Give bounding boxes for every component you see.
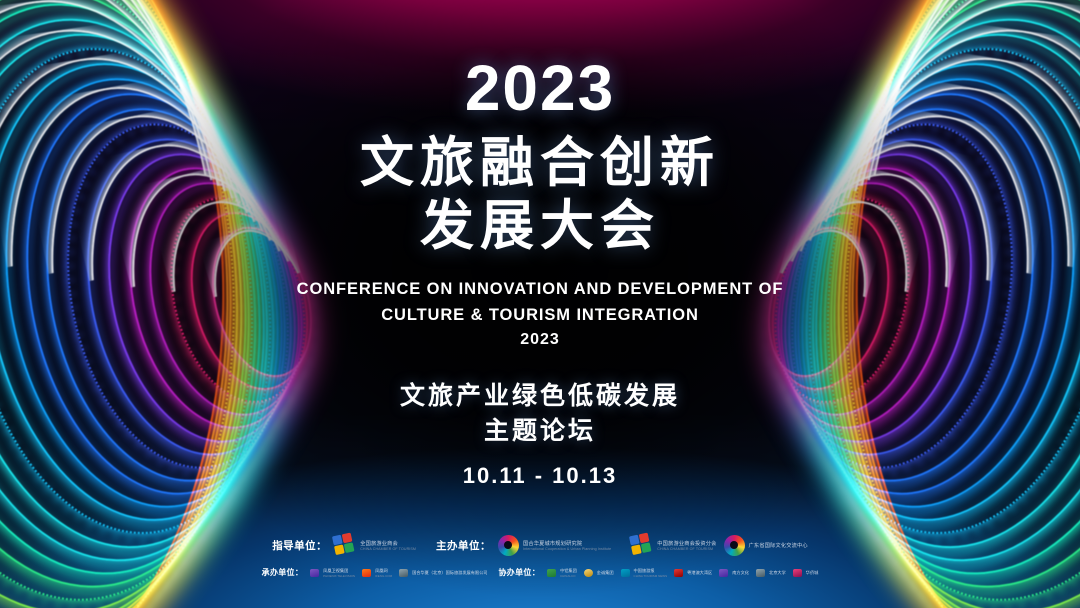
sponsor-name-cn: 金诚集团	[597, 570, 614, 576]
sponsor-logo: 北京大学	[756, 569, 786, 577]
sponsor-name-en: CHINA CHAMBER OF TOURISM	[657, 547, 716, 551]
sponsor-group: 指导单位：全国旅游业商会CHINA CHAMBER OF TOURISM	[272, 534, 416, 556]
sponsor-logo-text: 金诚集团	[597, 570, 614, 576]
sponsor-logo: 南方文化	[719, 569, 749, 577]
sponsor-logo: 全国旅游业商会CHINA CHAMBER OF TOURISM	[334, 534, 416, 556]
cube-logo	[332, 532, 358, 558]
sponsor-section: 指导单位：全国旅游业商会CHINA CHAMBER OF TOURISM主办单位…	[0, 534, 1080, 578]
sponsor-group: 中国旅游业商会投资分会CHINA CHAMBER OF TOURISM广东省国际…	[631, 534, 808, 556]
globe-logo	[724, 535, 745, 556]
sponsor-name-cn: 中国旅游业商会投资分会	[657, 540, 716, 547]
pink-logo	[793, 569, 802, 577]
grey-logo	[399, 569, 408, 577]
sponsor-logo: 广东省国际文化交流中心	[724, 535, 808, 556]
sponsor-name-cn: 粤港澳大湾区	[687, 570, 712, 576]
sponsor-group: 主办单位：国合华夏城市规划研究院International Cooperatio…	[436, 535, 611, 556]
sponsor-logo: 华侨城	[793, 569, 819, 577]
sponsor-logo-text: 凤凰卫视集团PHOENIX TELEVISION	[323, 568, 355, 578]
english-title-line2: CULTURE & TOURISM INTEGRATION	[297, 303, 784, 329]
sponsor-logo: 国合华夏城市规划研究院International Cooperation & U…	[498, 535, 611, 556]
sponsor-logo-text: 凤凰网IFENG.COM	[375, 568, 392, 578]
sponsor-name-cn: 国合华夏城市规划研究院	[523, 540, 611, 547]
sponsor-name-cn: 北京大学	[769, 570, 786, 576]
sponsor-logo-text: 国合华夏城市规划研究院International Cooperation & U…	[523, 540, 611, 551]
chinese-title-line2: 发展大会	[360, 195, 720, 258]
sponsor-name-cn: 全国旅游业商会	[360, 540, 416, 547]
red-logo	[674, 569, 683, 577]
sponsor-label: 承办单位：	[262, 567, 304, 578]
sponsor-name-en: International Cooperation & Urban Planni…	[523, 547, 611, 551]
teal-logo	[621, 569, 630, 577]
sponsor-row-primary: 指导单位：全国旅游业商会CHINA CHAMBER OF TOURISM主办单位…	[0, 534, 1080, 556]
sponsor-logo: 金诚集团	[584, 569, 614, 577]
sponsor-logo: 凤凰网IFENG.COM	[362, 568, 392, 578]
sponsor-logo: 国合华夏（北京）国际旅游发展有限公司	[399, 569, 487, 577]
violet-logo	[310, 569, 319, 577]
green-logo	[547, 569, 556, 577]
sponsor-logo-text: 北京大学	[769, 570, 786, 576]
chinese-title-line1: 文旅融合创新	[360, 132, 720, 195]
orange-logo	[362, 569, 371, 577]
sponsor-name-en: PHOENIX TELEVISION	[323, 574, 355, 578]
forum-theme: 文旅产业绿色低碳发展 主题论坛	[400, 379, 680, 449]
poster-content: 2023 文旅融合创新 发展大会 CONFERENCE ON INNOVATIO…	[0, 0, 1080, 608]
conference-poster: 2023 文旅融合创新 发展大会 CONFERENCE ON INNOVATIO…	[0, 0, 1080, 608]
sponsor-logo: 粤港澳大湾区	[674, 569, 712, 577]
event-dates: 10.11 - 10.13	[463, 463, 617, 489]
grey-logo	[756, 569, 765, 577]
sponsor-label: 主办单位：	[436, 538, 491, 553]
sponsor-name-en: CHINA TOURISM NEWS	[634, 574, 668, 578]
english-title-year: 2023	[297, 328, 784, 353]
sponsor-name-cn: 广东省国际文化交流中心	[749, 542, 808, 549]
sponsor-group: 协办单位：中铝集团CHINALCO金诚集团中国旅游报CHINA TOURISM …	[499, 567, 819, 578]
gold-logo	[584, 569, 593, 577]
sponsor-group: 承办单位：凤凰卫视集团PHOENIX TELEVISION凤凰网IFENG.CO…	[262, 567, 488, 578]
violet-logo	[719, 569, 728, 577]
english-title-line1: CONFERENCE ON INNOVATION AND DEVELOPMENT…	[297, 277, 784, 303]
sponsor-logo-text: 粤港澳大湾区	[687, 570, 712, 576]
sponsor-logo: 凤凰卫视集团PHOENIX TELEVISION	[310, 568, 355, 578]
forum-theme-line2: 主题论坛	[400, 414, 680, 449]
sponsor-logo-text: 华侨城	[806, 570, 819, 576]
sponsor-logo-text: 中国旅游报CHINA TOURISM NEWS	[634, 568, 668, 578]
english-title: CONFERENCE ON INNOVATION AND DEVELOPMENT…	[297, 277, 784, 353]
cube-logo	[629, 532, 655, 558]
sponsor-label: 协办单位：	[499, 567, 541, 578]
sponsor-name-cn: 华侨城	[806, 570, 819, 576]
sponsor-logo: 中铝集团CHINALCO	[547, 568, 577, 578]
sponsor-name-en: IFENG.COM	[375, 574, 392, 578]
sponsor-logo-text: 国合华夏（北京）国际旅游发展有限公司	[412, 570, 487, 576]
year-heading: 2023	[465, 56, 615, 120]
globe-logo	[498, 535, 519, 556]
sponsor-logo-text: 中铝集团CHINALCO	[560, 568, 577, 578]
forum-theme-line1: 文旅产业绿色低碳发展	[400, 379, 680, 414]
sponsor-name-cn: 南方文化	[732, 570, 749, 576]
sponsor-logo-text: 全国旅游业商会CHINA CHAMBER OF TOURISM	[360, 540, 416, 551]
sponsor-name-en: CHINALCO	[560, 574, 577, 578]
sponsor-label: 指导单位：	[272, 538, 327, 553]
sponsor-logo: 中国旅游报CHINA TOURISM NEWS	[621, 568, 668, 578]
sponsor-logo-text: 南方文化	[732, 570, 749, 576]
sponsor-name-en: CHINA CHAMBER OF TOURISM	[360, 547, 416, 551]
sponsor-logo-text: 中国旅游业商会投资分会CHINA CHAMBER OF TOURISM	[657, 540, 716, 551]
sponsor-name-cn: 国合华夏（北京）国际旅游发展有限公司	[412, 570, 487, 576]
chinese-title: 文旅融合创新 发展大会	[360, 132, 720, 257]
sponsor-logo: 中国旅游业商会投资分会CHINA CHAMBER OF TOURISM	[631, 534, 716, 556]
sponsor-row-secondary: 承办单位：凤凰卫视集团PHOENIX TELEVISION凤凰网IFENG.CO…	[0, 567, 1080, 578]
sponsor-logo-text: 广东省国际文化交流中心	[749, 542, 808, 549]
